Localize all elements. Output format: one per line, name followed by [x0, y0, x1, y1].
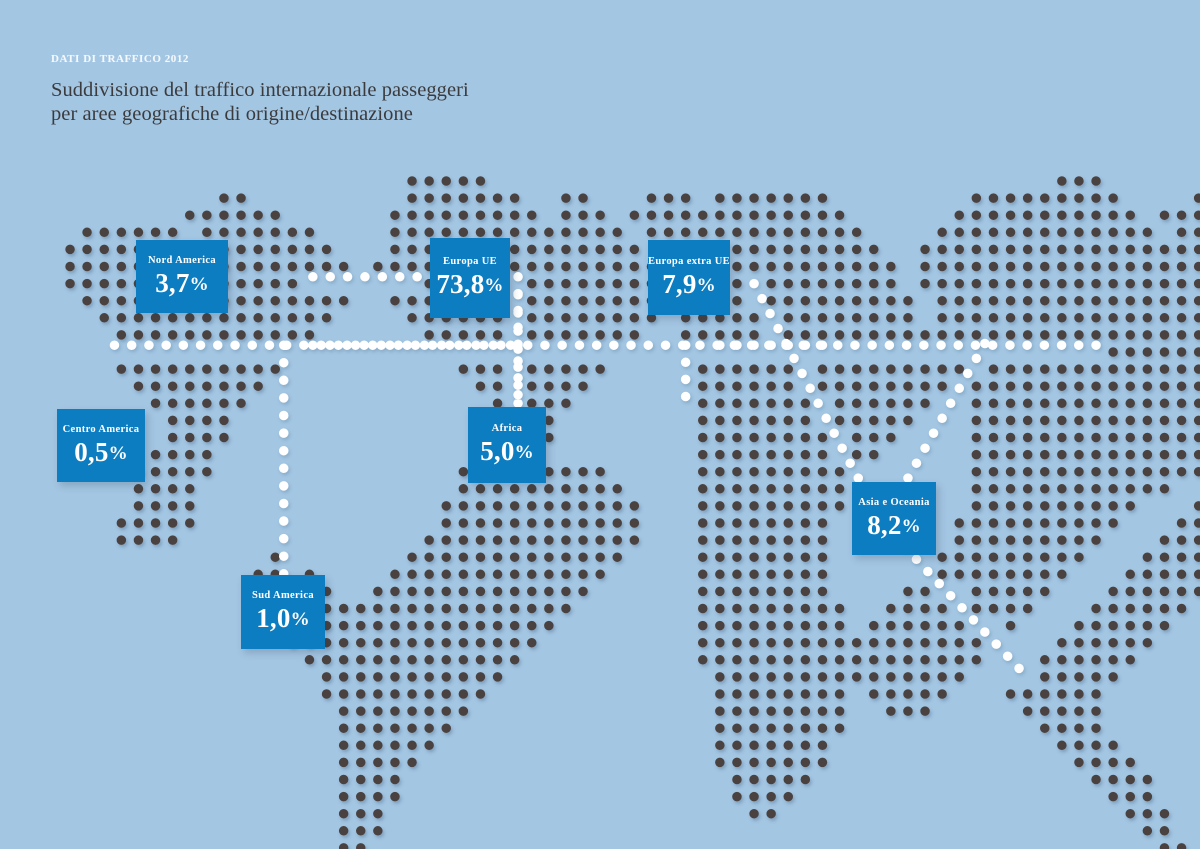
- percent-sign: %: [484, 275, 503, 296]
- stat-box-value: 8,2%: [867, 511, 921, 541]
- stat-box-europa-ue[interactable]: Europa UE73,8%: [430, 238, 510, 318]
- stat-box-label: Centro America: [63, 424, 140, 436]
- world-dot-map: [0, 0, 1200, 849]
- stat-box-value: 5,0%: [480, 437, 534, 467]
- stat-box-asia-e-oceania[interactable]: Asia e Oceania8,2%: [852, 482, 936, 555]
- percent-sign: %: [697, 275, 716, 296]
- stat-box-label: Sud America: [252, 590, 314, 602]
- stat-box-africa[interactable]: Africa5,0%: [468, 407, 546, 483]
- stat-box-label: Africa: [492, 423, 523, 435]
- stat-box-value: 3,7%: [155, 269, 209, 299]
- percent-sign: %: [291, 609, 310, 630]
- stat-box-label: Nord America: [148, 255, 216, 267]
- stat-value-number: 7,9: [662, 269, 696, 299]
- stat-value-number: 0,5: [74, 437, 108, 467]
- kicker-label: DATI DI TRAFFICO 2012: [51, 52, 469, 66]
- stat-box-label: Europa extra UE: [648, 256, 730, 268]
- percent-sign: %: [109, 443, 128, 464]
- stat-value-number: 5,0: [480, 436, 514, 466]
- stat-box-value: 1,0%: [256, 604, 310, 634]
- stat-value-number: 3,7: [155, 268, 189, 298]
- landmass-dot-grid: [65, 176, 1200, 849]
- page-title: Suddivisione del traffico internazionale…: [51, 79, 469, 126]
- stat-box-sud-america[interactable]: Sud America1,0%: [241, 575, 325, 649]
- percent-sign: %: [515, 442, 534, 463]
- stat-box-label: Europa UE: [443, 256, 497, 268]
- stat-value-number: 8,2: [867, 510, 901, 540]
- header-block: DATI DI TRAFFICO 2012 Suddivisione del t…: [51, 52, 469, 126]
- stat-box-europa-extra-ue[interactable]: Europa extra UE7,9%: [648, 240, 730, 315]
- stat-box-value: 0,5%: [74, 438, 128, 468]
- percent-sign: %: [190, 274, 209, 295]
- stat-box-label: Asia e Oceania: [858, 497, 929, 509]
- infographic-canvas: DATI DI TRAFFICO 2012 Suddivisione del t…: [0, 0, 1200, 849]
- stat-value-number: 1,0: [256, 603, 290, 633]
- stat-value-number: 73,8: [436, 269, 484, 299]
- stat-box-centro-america[interactable]: Centro America0,5%: [57, 409, 145, 482]
- stat-box-nord-america[interactable]: Nord America3,7%: [136, 240, 228, 313]
- stat-box-value: 73,8%: [436, 270, 503, 300]
- percent-sign: %: [902, 516, 921, 537]
- stat-box-value: 7,9%: [662, 270, 716, 300]
